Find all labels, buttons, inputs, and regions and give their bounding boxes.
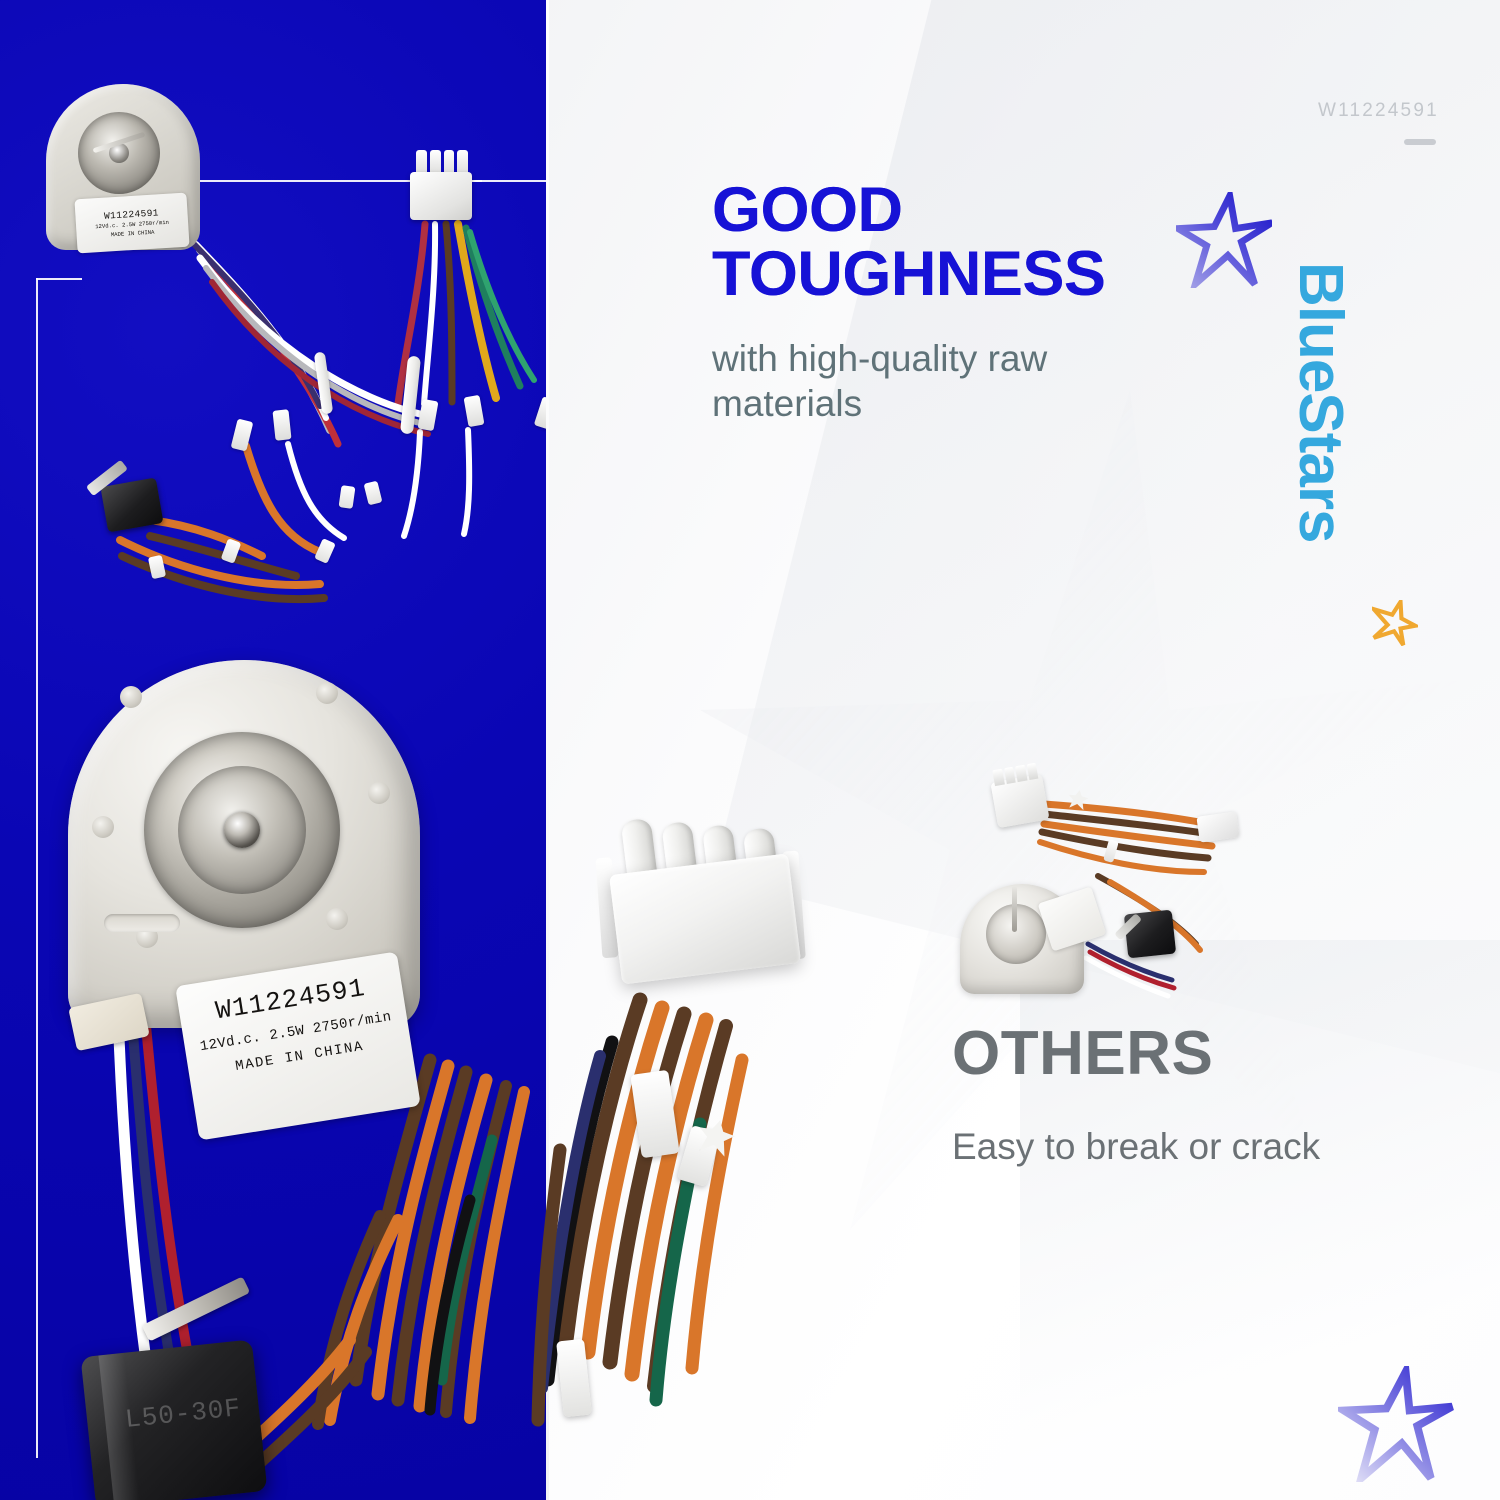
thermistor-capsule xyxy=(314,352,334,415)
star-icon xyxy=(1176,192,1272,288)
others-connector xyxy=(990,774,1049,828)
headline-line-1: GOOD xyxy=(712,175,903,245)
thermostat-mount-clip xyxy=(142,1276,251,1341)
wire-tie xyxy=(221,538,242,563)
guide-line xyxy=(36,278,38,1458)
brand-name-blue: Blue xyxy=(1286,262,1355,392)
product-label-large: W11224591 12Vd.c. 2.5W 2750r/min MADE IN… xyxy=(175,951,421,1140)
good-toughness-subtitle: with high-quality raw materials xyxy=(712,336,1182,426)
motor-boss xyxy=(326,908,348,930)
thermostat-lower: L50-30F xyxy=(81,1339,268,1500)
connector-shell xyxy=(609,853,801,984)
wire-tie xyxy=(314,538,336,564)
others-motor-shaft xyxy=(1012,886,1017,932)
motor-hub-large xyxy=(144,732,340,928)
brand-star-icon xyxy=(1372,600,1418,646)
star-icon xyxy=(1338,1366,1454,1482)
motor-boss xyxy=(316,682,338,704)
connector-body xyxy=(410,172,472,220)
others-title: OTHERS xyxy=(952,1018,1213,1089)
others-connector-small xyxy=(1196,811,1239,842)
guide-line xyxy=(36,278,82,280)
label-origin: MADE IN CHINA xyxy=(111,229,155,239)
motor-boss xyxy=(368,782,390,804)
thermostat-marking: L50-30F xyxy=(124,1393,243,1435)
good-toughness-headline: GOOD TOUGHNESS xyxy=(712,178,1232,307)
wire-tie xyxy=(339,485,356,509)
headline-line-2: TOUGHNESS xyxy=(712,242,1232,306)
spade-terminal xyxy=(418,399,439,431)
spade-terminal xyxy=(231,419,254,452)
part-number-underline xyxy=(1404,139,1436,145)
thermostat-clip xyxy=(86,460,128,497)
connector-4pin-large xyxy=(583,788,824,1033)
thermostat-upper xyxy=(100,477,163,532)
wire-tie xyxy=(364,481,383,506)
others-subtitle: Easy to break or crack xyxy=(952,1126,1320,1168)
motor-boss xyxy=(92,816,114,838)
others-thermostat xyxy=(1124,910,1176,959)
panel-divider xyxy=(546,0,549,1500)
motor-mount-slot xyxy=(104,914,180,932)
brand-name-stars: Stars xyxy=(1286,392,1355,542)
product-photo-panel: W11224591 12Vd.c. 2.5W 2750r/min MADE IN… xyxy=(0,0,548,1500)
connector-4pin-top xyxy=(404,150,480,224)
motor-boss xyxy=(120,686,142,708)
motor-hub xyxy=(78,112,160,194)
brand-logo: BlueStars xyxy=(1285,262,1356,542)
part-number-watermark: W11224591 xyxy=(1318,100,1439,122)
product-label-small: W11224591 12Vd.c. 2.5W 2750r/min MADE IN… xyxy=(74,193,189,254)
spade-terminal xyxy=(272,409,291,441)
product-marketing-image: W11224591 12Vd.c. 2.5W 2750r/min MADE IN… xyxy=(0,0,1500,1500)
wire-tie xyxy=(148,555,166,579)
spade-terminal xyxy=(464,395,485,427)
others-product-photo xyxy=(948,768,1278,1008)
